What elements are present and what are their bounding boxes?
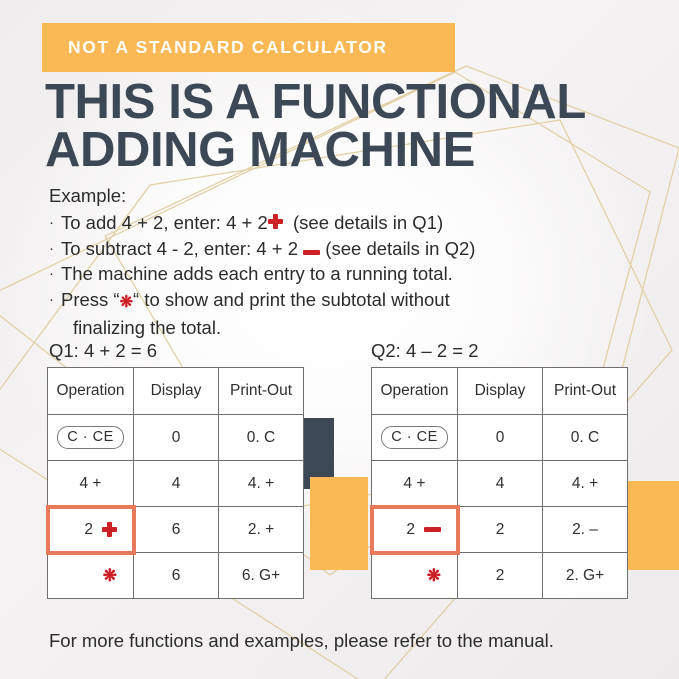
q1-display-cell: 6: [134, 507, 219, 553]
list-item: · To subtract 4 - 2, enter: 4 + 2 (see d…: [49, 236, 649, 262]
list-item-continuation: finalizing the total.: [49, 315, 649, 341]
footer-note: For more functions and examples, please …: [49, 630, 554, 652]
table-row: C · CE 0 0. C: [372, 415, 628, 461]
table-row: 4 + 4 4. +: [48, 461, 304, 507]
table-row: ❋ 2 2. G+: [372, 553, 628, 599]
bullet-1-post: (see details in Q1): [283, 212, 443, 233]
q1-operation-cell: C · CE: [48, 415, 134, 461]
q1-display-cell: 4: [134, 461, 219, 507]
bullet-4-pre: Press “: [61, 289, 120, 310]
asterisk-icon: ❋: [120, 290, 133, 316]
page-title: THIS IS A FUNCTIONAL ADDING MACHINE: [45, 78, 655, 174]
q2-operation-cell: 4 +: [372, 461, 458, 507]
page-title-line-2: ADDING MACHINE: [45, 126, 655, 174]
q1-caption: Q1: 4 + 2 = 6: [49, 340, 157, 362]
page-title-line-1: THIS IS A FUNCTIONAL: [45, 75, 586, 129]
q1-operation-cell-highlighted: 2: [48, 507, 134, 553]
bullet-1-pre: To add 4 + 2, enter: 4 + 2: [61, 212, 268, 233]
bullet-4-post: “ to show and print the subtotal without: [133, 289, 450, 310]
c-ce-button[interactable]: C · CE: [381, 426, 448, 450]
column-header-operation: Operation: [48, 368, 134, 415]
bullet-marker: ·: [49, 261, 61, 287]
asterisk-icon[interactable]: ❋: [103, 566, 117, 586]
orange-accent-block-middle: [310, 477, 368, 570]
list-item: · Press “❋“ to show and print the subtot…: [49, 287, 649, 316]
table-row-highlighted: 2 2 2. –: [372, 507, 628, 553]
c-ce-button[interactable]: C · CE: [57, 426, 124, 450]
q1-operation-cell: 4 +: [48, 461, 134, 507]
banner-label: NOT A STANDARD CALCULATOR: [42, 37, 388, 58]
q2-table: Operation Display Print-Out C · CE 0 0. …: [371, 367, 628, 599]
bullet-4-continuation: finalizing the total.: [61, 315, 649, 341]
q2-operation-cell: C · CE: [372, 415, 458, 461]
poster-canvas: NOT A STANDARD CALCULATOR THIS IS A FUNC…: [0, 0, 679, 679]
minus-icon[interactable]: [424, 527, 441, 532]
q2-caption: Q2: 4 – 2 = 2: [371, 340, 478, 362]
column-header-display: Display: [134, 368, 219, 415]
bullet-3-text: The machine adds each entry to a running…: [61, 261, 649, 287]
orange-accent-block-right: [622, 481, 679, 570]
bullet-marker: ·: [49, 210, 61, 236]
q2-printout-cell: 4. +: [543, 461, 628, 507]
bullet-2-post: (see details in Q2): [320, 238, 475, 259]
example-label: Example:: [49, 185, 126, 207]
minus-icon: [303, 250, 320, 255]
q2-printout-cell: 2. –: [543, 507, 628, 553]
column-header-display: Display: [458, 368, 543, 415]
q1-printout-cell: 0. C: [219, 415, 304, 461]
bullet-marker: ·: [49, 236, 61, 262]
q2-operation-cell: ❋: [372, 553, 458, 599]
q2-printout-cell: 2. G+: [543, 553, 628, 599]
table-row: ❋ 6 6. G+: [48, 553, 304, 599]
table-row: C · CE 0 0. C: [48, 415, 304, 461]
bullet-2-pre: To subtract 4 - 2, enter: 4 + 2: [61, 238, 303, 259]
q1-printout-cell: 6. G+: [219, 553, 304, 599]
q2-display-cell: 4: [458, 461, 543, 507]
q1-table: Operation Display Print-Out C · CE 0 0. …: [47, 367, 304, 599]
asterisk-icon[interactable]: ❋: [427, 566, 441, 586]
q2-display-cell: 2: [458, 553, 543, 599]
q1-printout-cell: 2. +: [219, 507, 304, 553]
table-header-row: Operation Display Print-Out: [372, 368, 628, 415]
banner: NOT A STANDARD CALCULATOR: [42, 23, 455, 72]
column-header-printout: Print-Out: [219, 368, 304, 415]
list-item: · The machine adds each entry to a runni…: [49, 261, 649, 287]
q1-operation-cell: ❋: [48, 553, 134, 599]
q2-operand: 2: [406, 521, 415, 539]
q2-display-cell: 0: [458, 415, 543, 461]
q2-display-cell: 2: [458, 507, 543, 553]
q1-operand: 2: [84, 521, 93, 539]
table-header-row: Operation Display Print-Out: [48, 368, 304, 415]
list-item: · To add 4 + 2, enter: 4 + 2 (see detail…: [49, 210, 649, 236]
bullet-list: · To add 4 + 2, enter: 4 + 2 (see detail…: [49, 210, 649, 341]
q2-operation-cell-highlighted: 2: [372, 507, 458, 553]
table-row-highlighted: 2 6 2. +: [48, 507, 304, 553]
plus-icon: [268, 214, 283, 229]
bullet-marker: ·: [49, 287, 61, 313]
column-header-operation: Operation: [372, 368, 458, 415]
column-header-printout: Print-Out: [543, 368, 628, 415]
q2-printout-cell: 0. C: [543, 415, 628, 461]
q1-display-cell: 6: [134, 553, 219, 599]
table-row: 4 + 4 4. +: [372, 461, 628, 507]
plus-icon[interactable]: [102, 522, 117, 537]
q1-display-cell: 0: [134, 415, 219, 461]
q1-printout-cell: 4. +: [219, 461, 304, 507]
